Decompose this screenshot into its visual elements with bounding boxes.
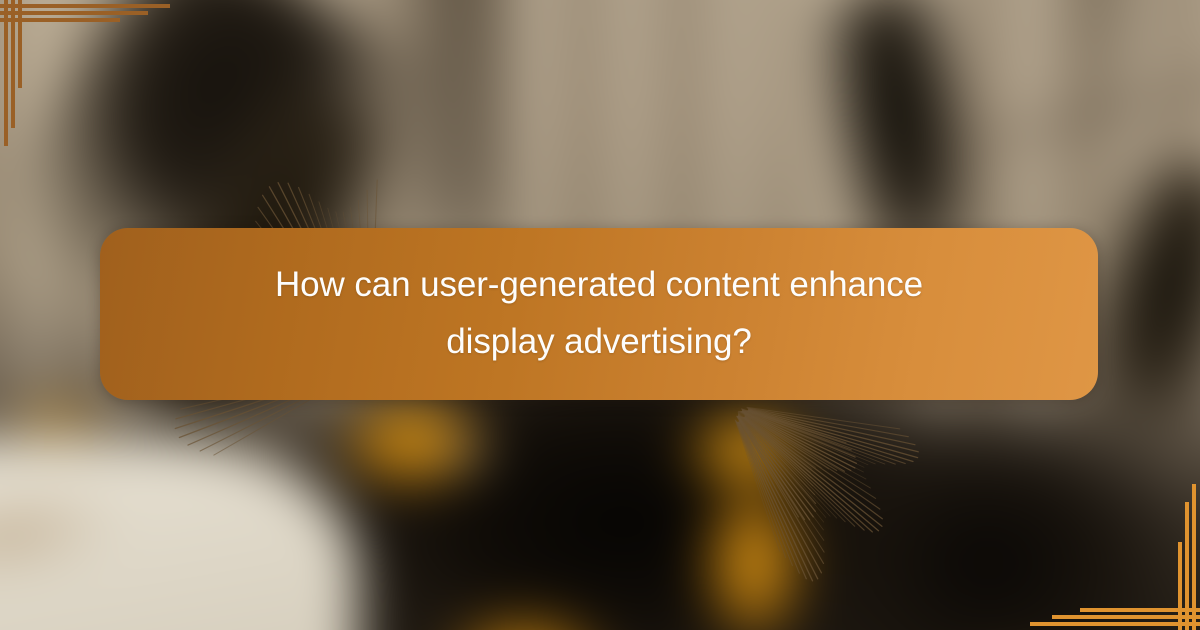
question-banner: How can user-generated content enhance d… [100,228,1098,400]
corner-tl-v3 [18,0,22,88]
corner-tl-v2 [11,0,15,128]
corner-tl-v1 [4,0,8,146]
corner-br-v3 [1178,542,1182,630]
specular-highlight [439,431,493,470]
corner-tl-h1 [0,4,170,8]
corner-br-v1 [1192,484,1196,630]
corner-br-v2 [1185,502,1189,630]
quote-card: How can user-generated content enhance d… [0,0,1200,630]
corner-br-h1 [1030,622,1200,626]
corner-br-h3 [1080,608,1200,612]
starburst-right [690,395,1090,595]
corner-tl-h2 [0,11,148,15]
amber-highlight-4 [439,615,613,630]
question-text: How can user-generated content enhance d… [219,257,979,370]
